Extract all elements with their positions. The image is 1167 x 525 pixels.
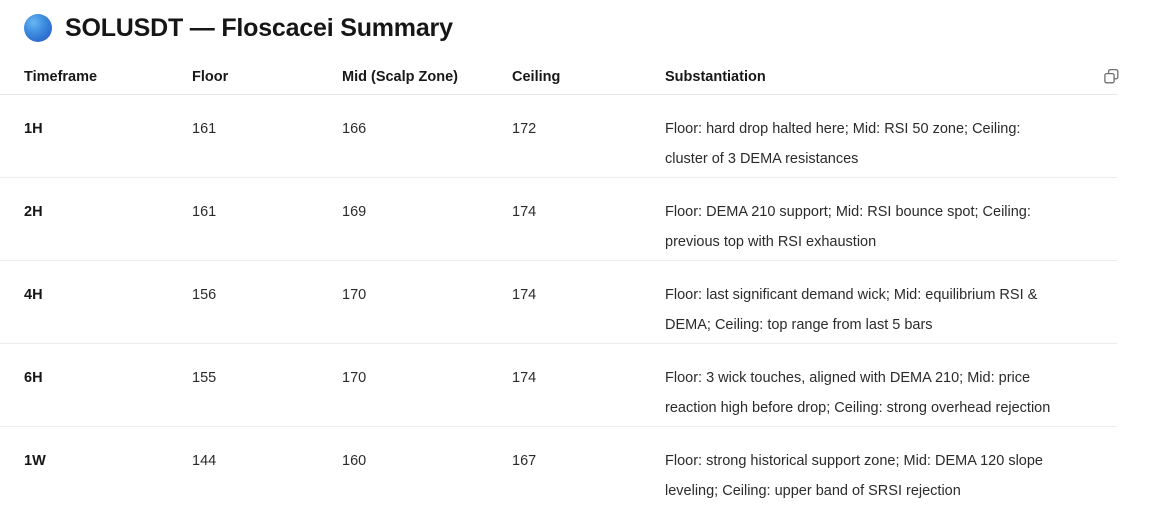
cell-mid: 160 [342, 446, 512, 476]
cell-mid: 170 [342, 280, 512, 310]
table-row[interactable]: 4H 156 170 174 Floor: last significant d… [0, 261, 1117, 344]
cell-substantiation: Floor: DEMA 210 support; Mid: RSI bounce… [665, 197, 1067, 257]
cell-timeframe: 1W [24, 446, 192, 476]
column-header-ceiling: Ceiling [512, 69, 665, 85]
column-header-substantiation: Substantiation [665, 69, 766, 85]
cell-ceiling: 174 [512, 280, 665, 310]
column-header-timeframe: Timeframe [24, 69, 192, 85]
cell-ceiling: 167 [512, 446, 665, 476]
cell-substantiation: Floor: hard drop halted here; Mid: RSI 5… [665, 114, 1067, 174]
page-title: SOLUSDT — Floscacei Summary [65, 16, 453, 41]
cell-floor: 161 [192, 114, 342, 144]
cell-timeframe: 2H [24, 197, 192, 227]
cell-mid: 166 [342, 114, 512, 144]
table-row[interactable]: 2H 161 169 174 Floor: DEMA 210 support; … [0, 178, 1117, 261]
copy-icon[interactable] [1100, 66, 1122, 88]
cell-timeframe: 1H [24, 114, 192, 144]
cell-ceiling: 174 [512, 197, 665, 227]
column-header-substantiation-wrap: Substantiation [665, 69, 1117, 85]
cell-ceiling: 174 [512, 363, 665, 393]
table-row[interactable]: 1W 144 160 167 Floor: strong historical … [0, 427, 1117, 510]
cell-floor: 161 [192, 197, 342, 227]
summary-page: SOLUSDT — Floscacei Summary Timeframe Fl… [0, 0, 1167, 525]
cell-substantiation: Floor: last significant demand wick; Mid… [665, 280, 1067, 340]
cell-ceiling: 172 [512, 114, 665, 144]
levels-table: Timeframe Floor Mid (Scalp Zone) Ceiling… [0, 59, 1167, 510]
cell-mid: 169 [342, 197, 512, 227]
table-row[interactable]: 1H 161 166 172 Floor: hard drop halted h… [0, 95, 1117, 178]
cell-substantiation: Floor: strong historical support zone; M… [665, 446, 1067, 506]
cell-timeframe: 4H [24, 280, 192, 310]
cell-mid: 170 [342, 363, 512, 393]
table-row[interactable]: 6H 155 170 174 Floor: 3 wick touches, al… [0, 344, 1117, 427]
cell-floor: 155 [192, 363, 342, 393]
cell-floor: 156 [192, 280, 342, 310]
column-header-mid: Mid (Scalp Zone) [342, 69, 512, 85]
cell-timeframe: 6H [24, 363, 192, 393]
cell-floor: 144 [192, 446, 342, 476]
blue-circle-token-icon [24, 14, 52, 42]
column-header-floor: Floor [192, 69, 342, 85]
table-header-row: Timeframe Floor Mid (Scalp Zone) Ceiling… [0, 59, 1117, 95]
page-header: SOLUSDT — Floscacei Summary [0, 0, 1167, 44]
cell-substantiation: Floor: 3 wick touches, aligned with DEMA… [665, 363, 1067, 423]
